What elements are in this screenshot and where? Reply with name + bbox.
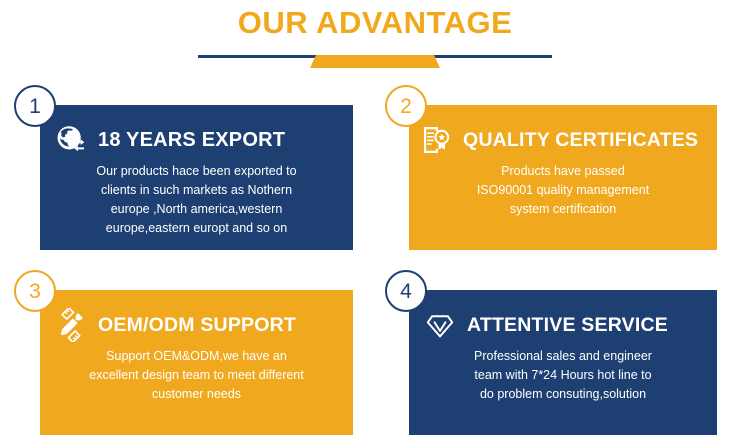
card-1-heading: 18 YEARS EXPORT — [98, 128, 285, 152]
card-3-number-badge: 3 — [14, 270, 56, 312]
card-1-body-line: clients in such markets as Nothern — [62, 181, 331, 200]
card-4-body-line: do problem consuting,solution — [431, 385, 695, 404]
card-3-body-line: excellent design team to meet different — [62, 366, 331, 385]
card-1-body-line: europe,eastern europt and so on — [62, 219, 331, 238]
card-2-header: QUALITY CERTIFICATES — [409, 123, 717, 157]
card-4-header: ATTENTIVE SERVICE — [409, 308, 717, 342]
globe-exchange-icon — [54, 123, 88, 157]
card-3-heading: OEM/ODM SUPPORT — [98, 313, 296, 337]
card-4-body-line: team with 7*24 Hours hot line to — [431, 366, 695, 385]
card-2-body-line: ISO90001 quality management — [431, 181, 695, 200]
card-1-body: Our products hace been exported to clien… — [40, 162, 353, 238]
divider-tab-shape — [310, 55, 440, 68]
card-3-body: Support OEM&ODM,we have an excellent des… — [40, 347, 353, 404]
advantage-infographic: OUR ADVANTAGE 18 YEARS EXPORT Our produc… — [0, 0, 750, 445]
card-3-body-line: customer needs — [62, 385, 331, 404]
card-4-number-badge: 4 — [385, 270, 427, 312]
card-2-body-line: Products have passed — [431, 162, 695, 181]
title-divider — [198, 50, 552, 72]
card-2-body: Products have passed ISO90001 quality ma… — [409, 162, 717, 219]
card-1-header: 18 YEARS EXPORT — [40, 123, 353, 157]
page-title: OUR ADVANTAGE — [0, 4, 750, 42]
card-4-body: Professional sales and engineer team wit… — [409, 347, 717, 404]
card-2-body-line: system certification — [431, 200, 695, 219]
card-1-body-line: Our products hace been exported to — [62, 162, 331, 181]
advantage-card-2[interactable]: QUALITY CERTIFICATES Products have passe… — [409, 105, 717, 250]
certificate-icon — [419, 123, 453, 157]
advantage-card-3[interactable]: OEM/ODM SUPPORT Support OEM&ODM,we have … — [40, 290, 353, 435]
diamond-check-icon — [423, 308, 457, 342]
pencil-ruler-icon — [54, 308, 88, 342]
advantage-card-4[interactable]: ATTENTIVE SERVICE Professional sales and… — [409, 290, 717, 435]
card-1-body-line: europe ,North america,western — [62, 200, 331, 219]
card-3-body-line: Support OEM&ODM,we have an — [62, 347, 331, 366]
advantage-card-1[interactable]: 18 YEARS EXPORT Our products hace been e… — [40, 105, 353, 250]
card-4-body-line: Professional sales and engineer — [431, 347, 695, 366]
card-2-heading: QUALITY CERTIFICATES — [463, 128, 698, 152]
card-1-number-badge: 1 — [14, 85, 56, 127]
card-4-heading: ATTENTIVE SERVICE — [467, 313, 668, 337]
card-2-number-badge: 2 — [385, 85, 427, 127]
header: OUR ADVANTAGE — [0, 0, 750, 78]
card-3-header: OEM/ODM SUPPORT — [40, 308, 353, 342]
